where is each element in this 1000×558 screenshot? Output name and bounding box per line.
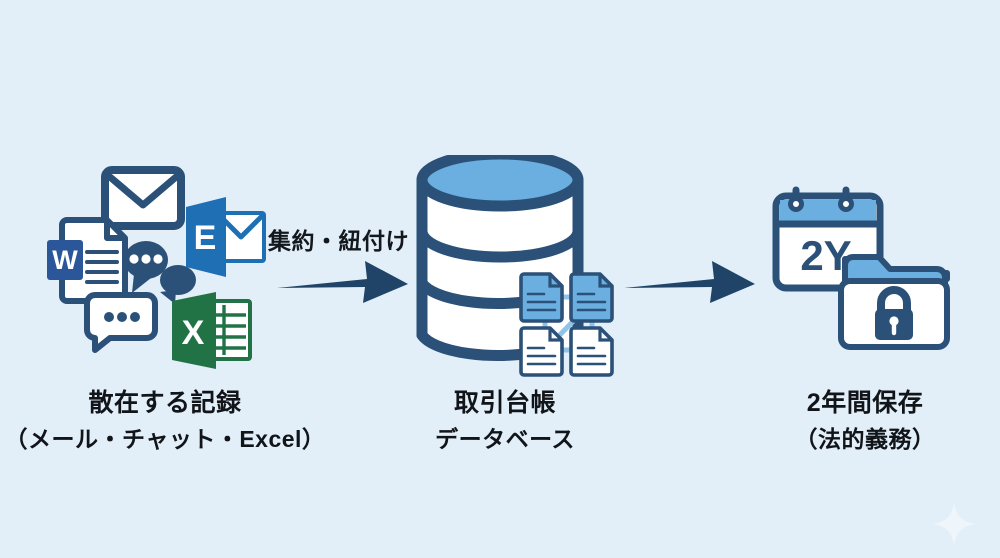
scattered-records-group: W E	[30, 150, 290, 370]
excel-badge-letter: X	[182, 314, 205, 352]
document-node	[521, 274, 562, 321]
retention-group: 2Y	[755, 180, 965, 370]
word-badge-letter: W	[52, 245, 78, 275]
locked-folder-icon	[833, 245, 953, 355]
arrow-aggregate-label: 集約・紐付け	[268, 222, 409, 256]
document-network-icon	[510, 270, 630, 380]
caption-scattered-records: 散在する記録 （メール・チャット・Excel）	[0, 387, 330, 454]
sparkle-decoration-icon	[930, 500, 978, 548]
caption-line-1: 取引台帳	[390, 387, 620, 420]
diagram-canvas: W E	[0, 0, 1000, 558]
caption-line-1: 散在する記録	[0, 387, 330, 420]
arrow-aggregate-icon	[275, 255, 410, 307]
outlook-badge-letter: E	[194, 219, 217, 257]
document-node	[521, 328, 562, 375]
caption-line-2: （法的義務）	[750, 424, 980, 454]
document-node	[571, 328, 612, 375]
outlook-mail-icon: E	[182, 195, 266, 281]
document-node	[571, 274, 612, 321]
caption-retention: 2年間保存 （法的義務）	[750, 387, 980, 454]
caption-line-2: データベース	[390, 424, 620, 454]
arrow-store-icon	[622, 255, 757, 307]
caption-line-2: （メール・チャット・Excel）	[0, 424, 330, 454]
ledger-database-group	[405, 155, 635, 380]
chat-bubble-outline-icon	[82, 290, 160, 354]
caption-line-1: 2年間保存	[750, 387, 980, 420]
excel-spreadsheet-icon: X	[168, 289, 254, 373]
caption-ledger-database: 取引台帳 データベース	[390, 387, 620, 454]
